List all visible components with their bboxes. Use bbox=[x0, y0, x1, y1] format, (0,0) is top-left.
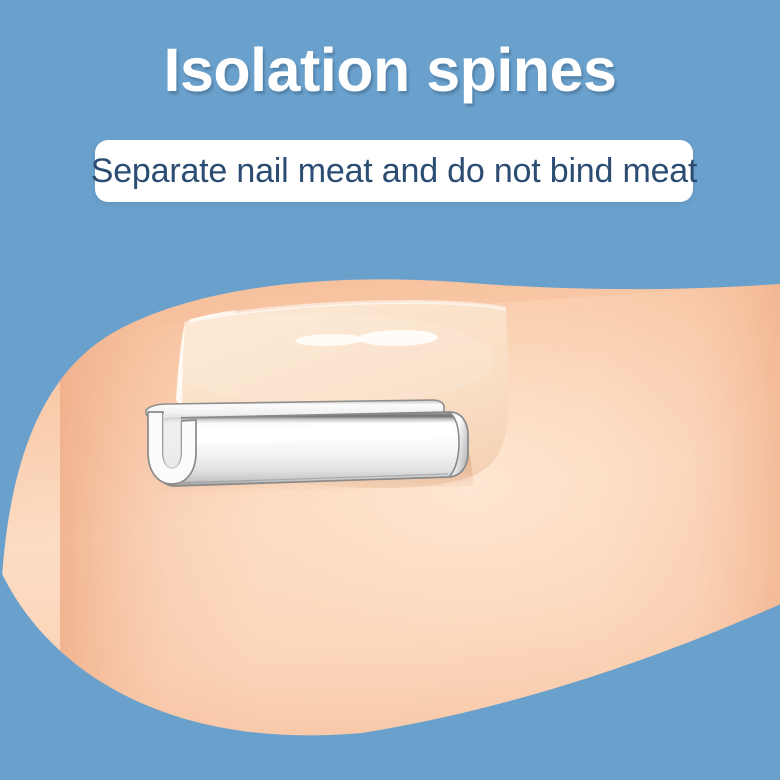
spine-channel-interior bbox=[163, 414, 181, 469]
isolation-spine-tool[interactable] bbox=[146, 400, 468, 486]
poster-canvas: Isolation spines Separate nail meat and … bbox=[0, 0, 780, 780]
nail-sheen bbox=[165, 314, 495, 406]
fingertip-illustration bbox=[0, 0, 780, 780]
